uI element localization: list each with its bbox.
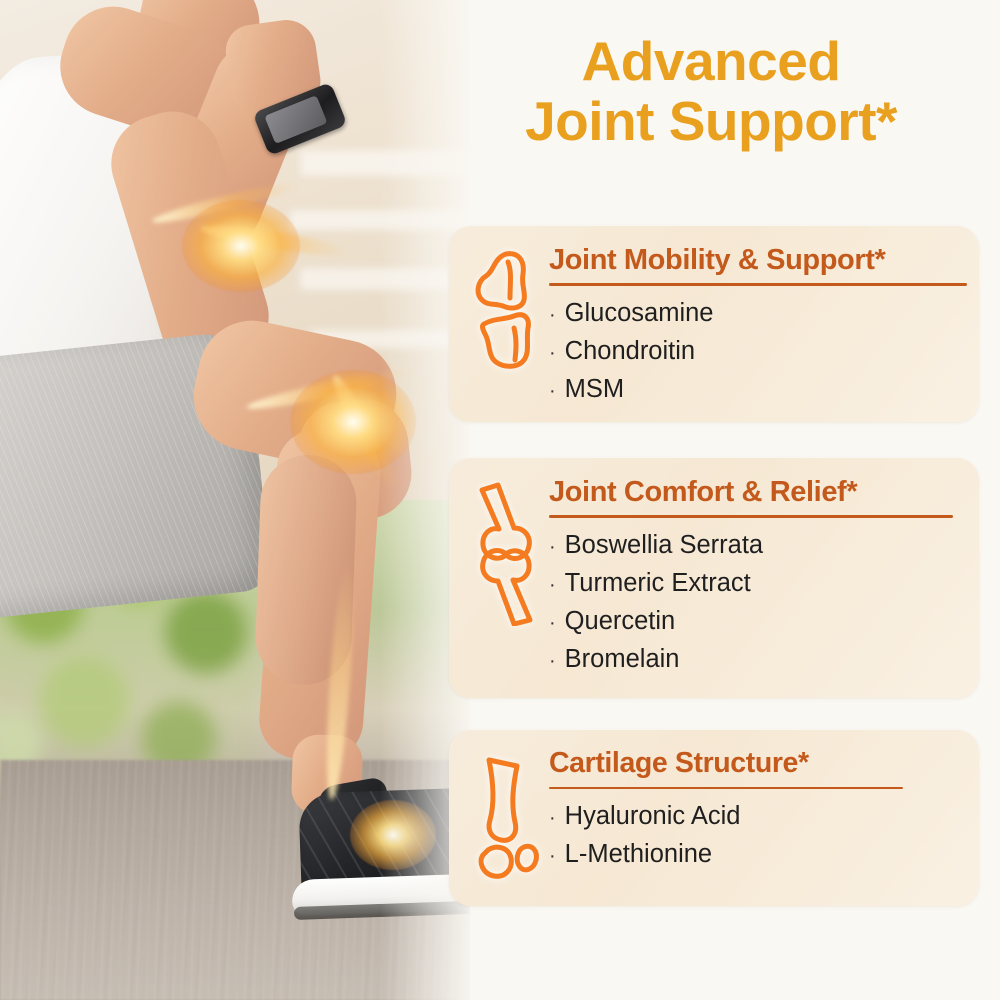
list-item: ·Bromelain (549, 641, 961, 679)
card-heading: Cartilage Structure* (549, 748, 961, 780)
list-item: ·Boswellia Serrata (549, 527, 961, 565)
bullet-icon: · (549, 343, 556, 363)
title-line-2: Joint Support* (430, 92, 992, 152)
ingredient-label: MSM (565, 371, 625, 409)
list-item: ·Chondroitin (549, 333, 967, 371)
ingredient-label: Boswellia Serrata (565, 527, 763, 565)
ingredient-label: Glucosamine (565, 295, 714, 333)
bullet-icon: · (549, 613, 556, 633)
heading-underline (549, 515, 953, 518)
card-content: Cartilage Structure* ·Hyaluronic Acid ·L… (549, 746, 961, 874)
bone-joint-icon (463, 474, 549, 626)
elbow-joint-glow (182, 200, 300, 292)
ingredient-label: L-Methionine (565, 836, 712, 874)
bullet-icon: · (549, 305, 556, 325)
ingredient-label: Hyaluronic Acid (565, 798, 741, 836)
bullet-icon: · (549, 537, 556, 557)
infographic-canvas: Advanced Joint Support* Joint Mobility &… (0, 0, 1000, 1000)
knee-joint-icon (463, 242, 549, 372)
ingredient-label: Quercetin (565, 603, 676, 641)
ingredient-list: ·Hyaluronic Acid ·L-Methionine (549, 798, 961, 874)
cartilage-bone-icon (463, 746, 549, 882)
list-item: ·Quercetin (549, 603, 961, 641)
page-title: Advanced Joint Support* (430, 32, 992, 152)
ingredient-list: ·Boswellia Serrata ·Turmeric Extract ·Qu… (549, 527, 961, 679)
card-content: Joint Mobility & Support* ·Glucosamine ·… (549, 242, 967, 409)
ingredient-list: ·Glucosamine ·Chondroitin ·MSM (549, 295, 967, 409)
bullet-icon: · (549, 846, 556, 866)
card-heading: Joint Mobility & Support* (549, 244, 967, 276)
benefit-card-joint-mobility: Joint Mobility & Support* ·Glucosamine ·… (449, 226, 979, 422)
list-item: ·L-Methionine (549, 836, 961, 874)
ingredient-label: Turmeric Extract (565, 565, 751, 603)
title-line-1: Advanced (582, 30, 841, 92)
card-heading: Joint Comfort & Relief* (549, 476, 961, 508)
benefit-card-cartilage-structure: Cartilage Structure* ·Hyaluronic Acid ·L… (449, 730, 979, 906)
list-item: ·Glucosamine (549, 295, 967, 333)
benefit-card-joint-comfort: Joint Comfort & Relief* ·Boswellia Serra… (449, 458, 979, 698)
heading-underline (549, 787, 903, 790)
list-item: ·MSM (549, 371, 967, 409)
bullet-icon: · (549, 808, 556, 828)
hero-photo (0, 0, 470, 1000)
list-item: ·Hyaluronic Acid (549, 798, 961, 836)
card-content: Joint Comfort & Relief* ·Boswellia Serra… (549, 474, 961, 679)
bullet-icon: · (549, 381, 556, 401)
bullet-icon: · (549, 651, 556, 671)
benefit-cards: Joint Mobility & Support* ·Glucosamine ·… (449, 226, 979, 906)
heading-underline (549, 283, 967, 286)
bullet-icon: · (549, 575, 556, 595)
ingredient-label: Bromelain (565, 641, 680, 679)
ingredient-label: Chondroitin (565, 333, 695, 371)
list-item: ·Turmeric Extract (549, 565, 961, 603)
